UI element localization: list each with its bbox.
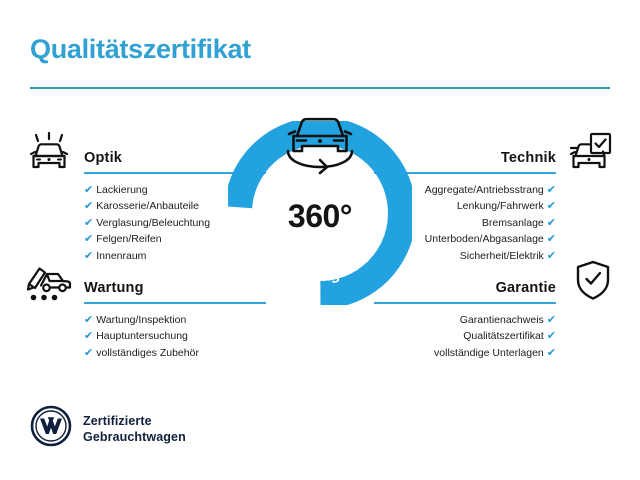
page-title: Qualitätszertifikat: [30, 34, 251, 65]
car-shine-icon: [27, 132, 73, 181]
section-wartung-list: ✔Wartung/Inspektion ✔Hauptuntersuchung ✔…: [84, 312, 266, 361]
list-item-label: Unterboden/Abgasanlage: [425, 233, 544, 245]
360-gebrauchtwagen-check-badge: Gebrauchtwagen-Check 360°: [228, 121, 412, 305]
footer-text: Zertifizierte Gebrauchtwagen: [83, 413, 186, 445]
check-icon: ✔: [84, 314, 93, 326]
list-item-label: Wartung/Inspektion: [96, 314, 186, 326]
list-item-label: Innenraum: [96, 250, 146, 262]
list-item: ✔Wartung/Inspektion: [84, 312, 266, 328]
list-item-label: Verglasung/Beleuchtung: [96, 217, 210, 229]
check-icon: ✔: [84, 184, 93, 196]
vw-logo: [30, 405, 72, 452]
list-item-label: Sicherheit/Elektrik: [460, 250, 544, 262]
list-item-label: Garantienachweis: [460, 314, 544, 326]
list-item-label: Lenkung/Fahrwerk: [457, 200, 544, 212]
section-garantie-title: Garantie: [496, 280, 556, 296]
section-technik-title: Technik: [501, 150, 556, 166]
section-optik-title: Optik: [84, 150, 122, 166]
list-item: Qualitätszertifikat✔: [374, 328, 556, 344]
check-icon: ✔: [84, 200, 93, 212]
check-icon: ✔: [547, 200, 556, 212]
list-item: ✔vollständiges Zubehör: [84, 345, 266, 361]
list-item-label: Hauptuntersuchung: [96, 330, 188, 342]
car-service-pen-icon: [25, 262, 73, 309]
check-icon: ✔: [547, 233, 556, 245]
shield-check-icon: [574, 259, 612, 306]
list-item: Garantienachweis✔: [374, 312, 556, 328]
check-icon: ✔: [547, 330, 556, 342]
check-icon: ✔: [547, 347, 556, 359]
list-item-label: vollständige Unterlagen: [434, 347, 544, 359]
list-item-label: Lackierung: [96, 184, 147, 196]
car-front-rotate-icon: [273, 107, 367, 177]
check-icon: ✔: [84, 347, 93, 359]
check-icon: ✔: [84, 330, 93, 342]
check-icon: ✔: [547, 184, 556, 196]
qualitaetszertifikat-page: Qualitätszertifikat Optik ✔Lacki: [0, 0, 640, 480]
footer-line-1: Zertifizierte: [83, 413, 186, 429]
section-wartung-title: Wartung: [84, 280, 144, 296]
list-item: ✔Hauptuntersuchung: [84, 328, 266, 344]
list-item-label: Bremsanlage: [482, 217, 544, 229]
list-item-label: Felgen/Reifen: [96, 233, 161, 245]
check-icon: ✔: [547, 217, 556, 229]
footer-line-2: Gebrauchtwagen: [83, 429, 186, 445]
title-divider: [30, 87, 610, 89]
check-icon: ✔: [547, 314, 556, 326]
check-icon: ✔: [84, 250, 93, 262]
check-icon: ✔: [84, 233, 93, 245]
list-item-label: Qualitätszertifikat: [463, 330, 544, 342]
check-icon: ✔: [547, 250, 556, 262]
footer-brand: Zertifizierte Gebrauchtwagen: [30, 405, 186, 452]
car-checkbox-icon: [566, 131, 612, 180]
list-item: vollständige Unterlagen✔: [374, 345, 556, 361]
list-item-label: vollständiges Zubehör: [96, 347, 199, 359]
list-item-label: Aggregate/Antriebsstrang: [425, 184, 544, 196]
check-icon: ✔: [84, 217, 93, 229]
list-item-label: Karosserie/Anbauteile: [96, 200, 199, 212]
section-garantie-list: Garantienachweis✔ Qualitätszertifikat✔ v…: [374, 312, 556, 361]
